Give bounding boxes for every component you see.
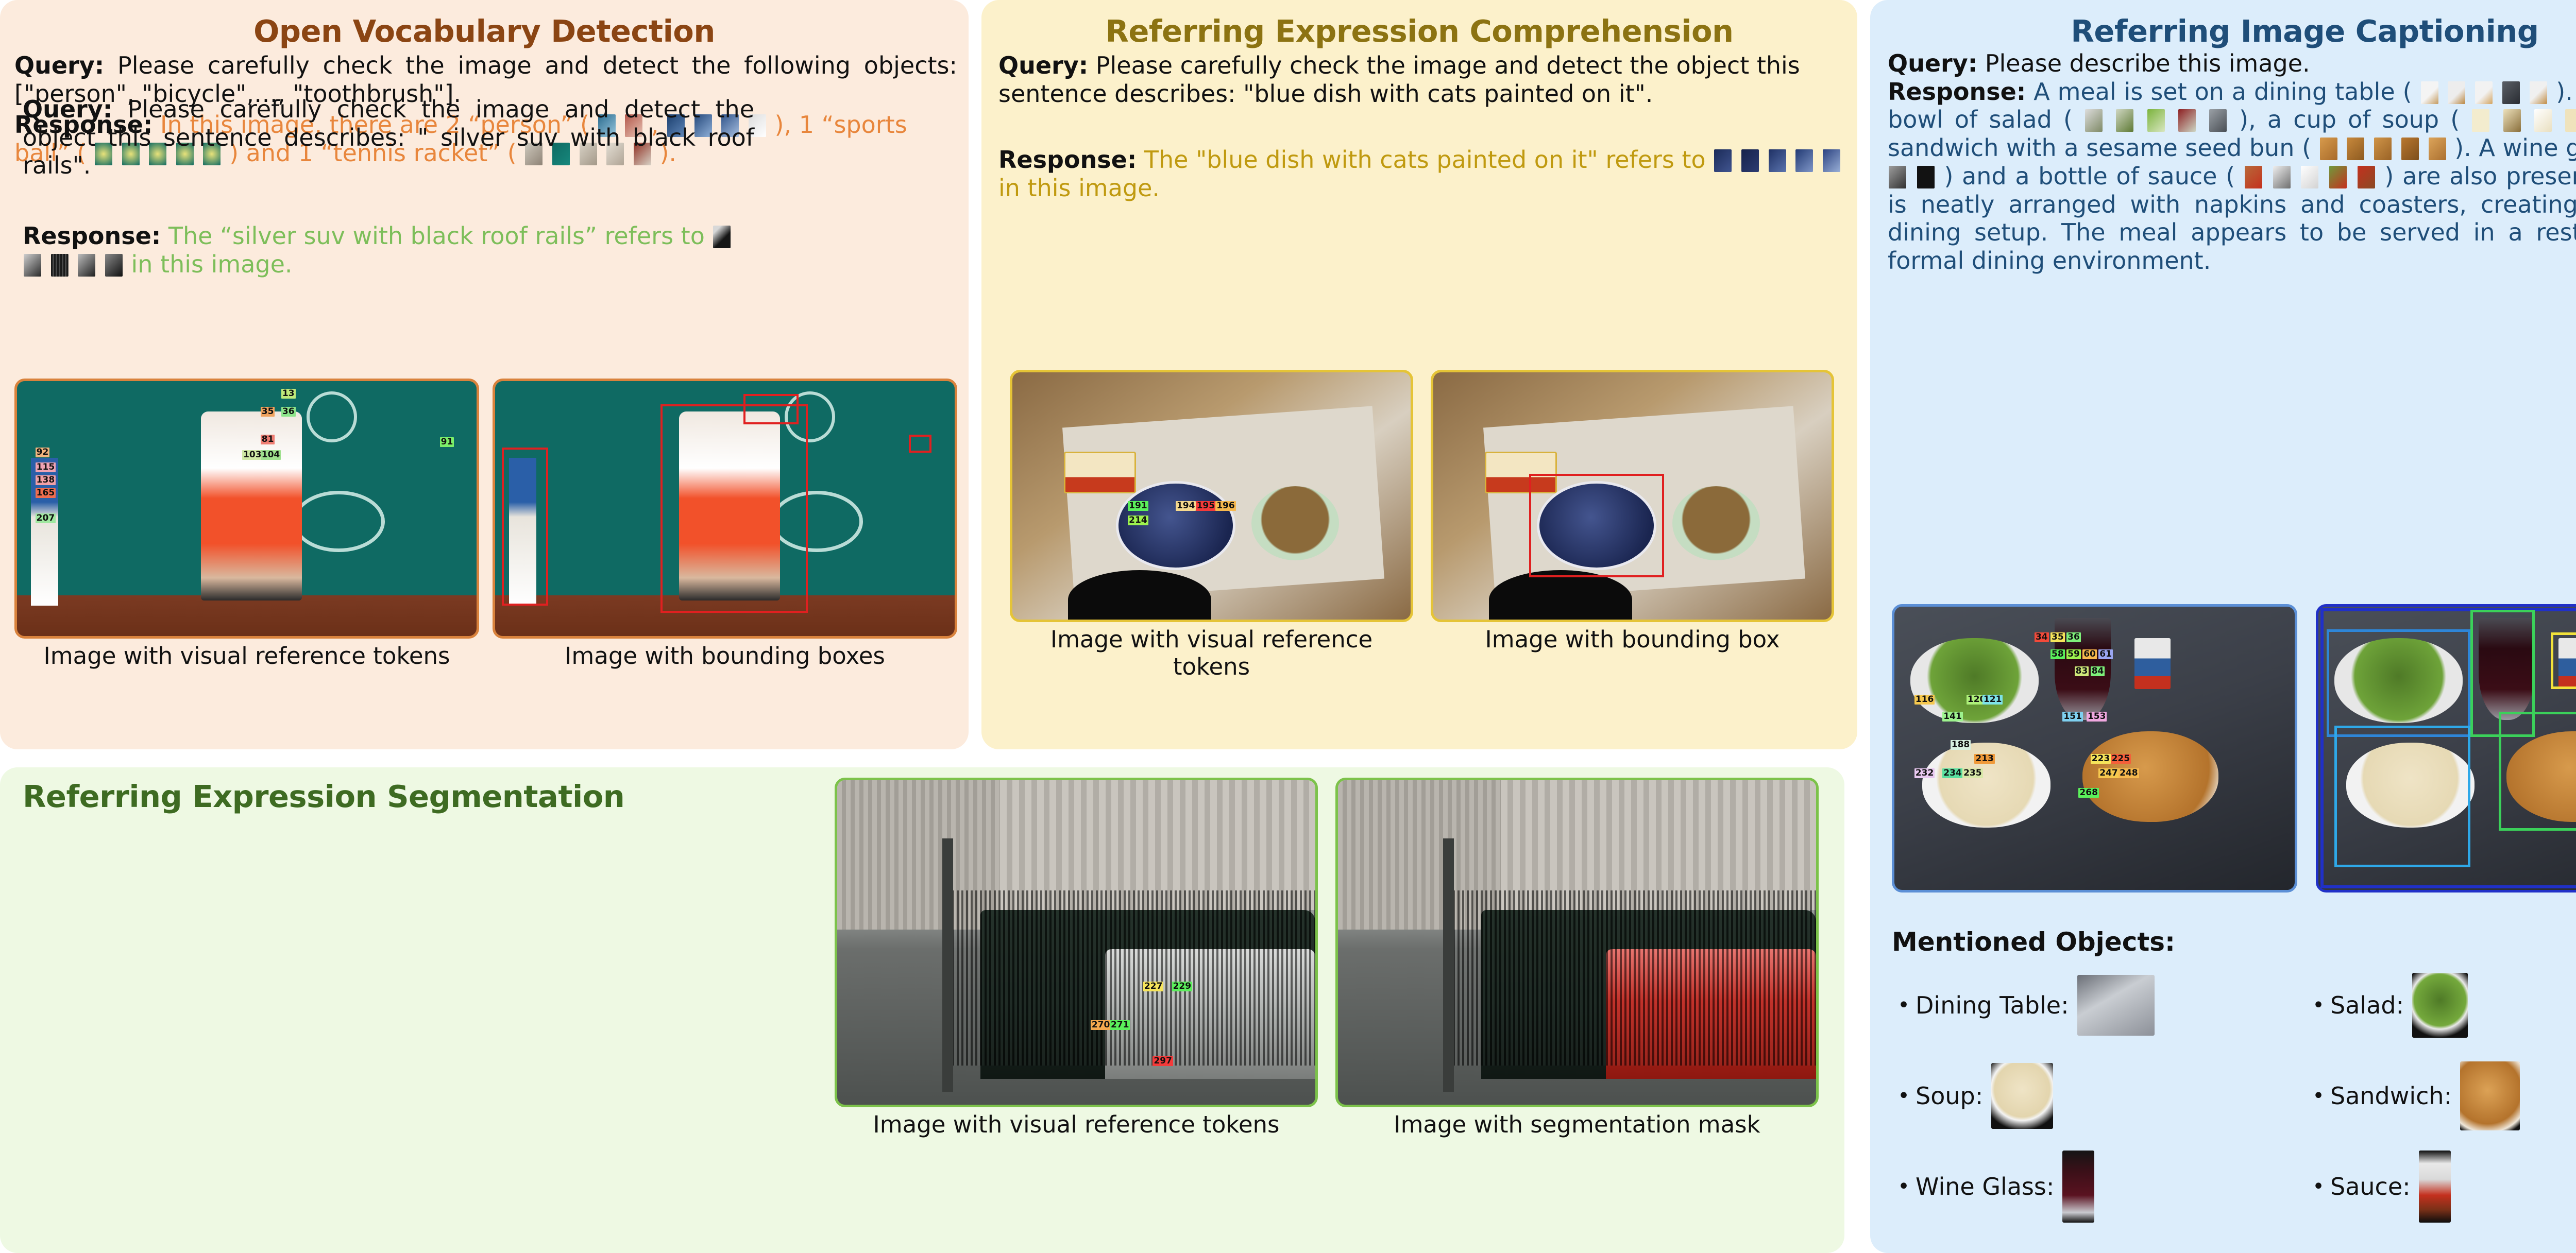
decor-logo-ellipse xyxy=(293,491,384,552)
token-chip-81: 81 xyxy=(261,435,275,444)
token-chip-270: 270 xyxy=(1091,1020,1111,1030)
visual-token-chip xyxy=(2245,166,2262,188)
token-chip-36: 36 xyxy=(2066,632,2081,642)
visual-token-chip xyxy=(2301,166,2318,188)
panel-title-ric: Referring Image Captioning xyxy=(1870,0,2576,49)
visual-token-chip xyxy=(2429,138,2446,160)
image-tennis-bounding-boxes[interactable] xyxy=(493,379,957,639)
ric-response-part-6: ) and a bottle of sauce ( xyxy=(1944,162,2235,190)
bounding-box-salad xyxy=(2327,629,2471,737)
token-chip-191: 191 xyxy=(1128,501,1148,511)
visual-token-chip xyxy=(713,226,731,248)
rec-text-block: Query: Please carefully check the image … xyxy=(998,52,1843,202)
bounding-box-person-secondary xyxy=(502,448,548,606)
token-chip-227: 227 xyxy=(1143,982,1164,991)
ric-query-text: Please describe this image. xyxy=(1985,49,2310,77)
bullet-icon: • xyxy=(2307,993,2330,1017)
token-chip-58: 58 xyxy=(2050,649,2065,659)
visual-token-chip xyxy=(24,254,41,277)
mentioned-object-label: Sandwich: xyxy=(2330,1082,2452,1110)
decor-fence xyxy=(952,890,1315,1066)
bullet-icon: • xyxy=(1892,1175,1916,1198)
res-response-label: Response: xyxy=(23,222,161,250)
visual-token-chip xyxy=(2503,109,2521,132)
ric-response: Response: A meal is set on a dining tabl… xyxy=(1888,78,2576,275)
token-chip-188: 188 xyxy=(1951,740,1971,750)
res-image-row: 227 229 270 271 297 Image with visual re… xyxy=(835,778,1819,1139)
ovd-caption-left: Image with visual reference tokens xyxy=(14,643,479,670)
visual-token-chip xyxy=(2147,109,2165,132)
visual-token-chip xyxy=(2472,109,2489,132)
mentioned-object-item[interactable]: • Sauce: xyxy=(2307,1143,2576,1230)
bullet-icon: • xyxy=(2307,1084,2330,1108)
visual-token-chip xyxy=(2534,109,2552,132)
ovd-image-row: 13 35 36 91 81 103 104 92 115 138 165 20… xyxy=(14,379,957,670)
mentioned-object-item[interactable]: • Sandwich: xyxy=(2307,1053,2576,1139)
bounding-box-tennis-racket xyxy=(743,394,799,424)
rec-image-left-cell: 191 214 194 195 196 Image with visual re… xyxy=(1010,370,1413,680)
token-chip-13: 13 xyxy=(281,389,296,399)
token-chip-248: 248 xyxy=(2119,768,2139,778)
token-chip-247: 247 xyxy=(2098,768,2119,778)
token-chip-229: 229 xyxy=(1172,982,1193,991)
image-street-segmentation-mask[interactable] xyxy=(1335,778,1819,1107)
ric-query: Query: Please describe this image. xyxy=(1888,49,2576,78)
mentioned-objects-title: Mentioned Objects: xyxy=(1892,927,2576,957)
token-chip-35: 35 xyxy=(2050,632,2065,642)
image-tennis-visual-reference-tokens[interactable]: 13 35 36 91 81 103 104 92 115 138 165 20… xyxy=(14,379,479,639)
ric-response-part-5: ). A wine glass ( xyxy=(2454,134,2576,162)
sandwich-thumb xyxy=(2460,1061,2520,1130)
sauce-thumb xyxy=(2419,1151,2451,1223)
decor-tennis-player xyxy=(201,411,302,600)
visual-token-chip xyxy=(2320,138,2337,160)
ric-response-label: Response: xyxy=(1888,78,2026,106)
mentioned-objects-grid: • Dining Table: • Salad: • Soup: • Sandw… xyxy=(1892,962,2576,1230)
res-caption-right: Image with segmentation mask xyxy=(1335,1111,1819,1139)
res-query-text: Please carefully check the image and det… xyxy=(23,95,754,179)
bounding-box-person-main xyxy=(660,404,807,613)
token-chip-268: 268 xyxy=(2078,788,2099,798)
rec-caption-left: Image with visual reference tokens xyxy=(1010,626,1413,680)
bounding-box-sports-ball xyxy=(909,435,932,453)
mentioned-object-item[interactable]: • Wine Glass: xyxy=(1892,1143,2307,1230)
decor-sauce-bottle xyxy=(2134,638,2171,689)
res-image-left-cell: 227 229 270 271 297 Image with visual re… xyxy=(835,778,1318,1139)
visual-token-chip xyxy=(2085,109,2103,132)
rec-image-row: 191 214 194 195 196 Image with visual re… xyxy=(1010,370,1834,680)
token-chip-141: 141 xyxy=(1942,712,1963,722)
token-chip-232: 232 xyxy=(1914,768,1935,778)
rec-query: Query: Please carefully check the image … xyxy=(998,52,1843,108)
visual-token-chip xyxy=(2401,138,2419,160)
bounding-box-blue-dish xyxy=(1529,474,1665,578)
bounding-box-sauce xyxy=(2551,632,2576,689)
bounding-box-soup xyxy=(2334,726,2470,867)
bounding-box-sandwich xyxy=(2499,712,2576,831)
token-chip-138: 138 xyxy=(36,475,56,485)
image-meal-bounding-boxes[interactable] xyxy=(2316,604,2576,892)
visual-token-chip xyxy=(2178,109,2196,132)
res-text-block: Query: Please carefully check the image … xyxy=(23,95,754,279)
ovd-image-left-cell: 13 35 36 91 81 103 104 92 115 138 165 20… xyxy=(14,379,479,670)
rec-image-right-cell: Image with bounding box xyxy=(1431,370,1834,680)
decor-street-pole xyxy=(1443,838,1453,1091)
visual-token-chip xyxy=(2347,138,2364,160)
ric-image-right-cell xyxy=(2316,604,2576,892)
res-response-part-1: The “silver suv with black roof rails” r… xyxy=(168,222,705,250)
token-chip-34: 34 xyxy=(2035,632,2049,642)
image-dish-bounding-box[interactable] xyxy=(1431,370,1834,622)
visual-token-chip xyxy=(2502,81,2520,104)
decor-green-bowl xyxy=(1251,486,1339,560)
visual-token-chip xyxy=(2530,81,2547,104)
rec-response-part-1: The "blue dish with cats painted on it" … xyxy=(1144,146,1706,174)
mentioned-object-label: Salad: xyxy=(2330,991,2404,1019)
token-chip-207: 207 xyxy=(36,513,56,523)
token-chip-59: 59 xyxy=(2066,649,2081,659)
ric-text-block: Query: Please describe this image. Respo… xyxy=(1888,49,2576,275)
visual-token-chip xyxy=(2209,109,2227,132)
token-chip-103: 103 xyxy=(242,450,263,460)
res-query-label: Query: xyxy=(23,95,112,123)
image-street-visual-reference-tokens[interactable]: 227 229 270 271 297 xyxy=(835,778,1318,1107)
token-chip-36: 36 xyxy=(281,407,296,417)
decor-cat-food-tin xyxy=(1064,452,1136,494)
token-chip-234: 234 xyxy=(1942,768,1963,778)
res-response: Response: The “silver suv with black roo… xyxy=(23,222,754,278)
rec-query-text: Please carefully check the image and det… xyxy=(998,52,1800,108)
decor-logo-circle xyxy=(307,391,357,442)
ovd-image-right-cell: Image with bounding boxes xyxy=(493,379,957,670)
ovd-query-label: Query: xyxy=(14,52,104,79)
visual-token-chip xyxy=(1823,149,1840,172)
mentioned-objects-section: Mentioned Objects: • Dining Table: • Sal… xyxy=(1892,927,2576,1230)
visual-token-chip xyxy=(51,254,69,277)
mentioned-object-item[interactable]: • Dining Table: xyxy=(1892,962,2307,1049)
token-chip-214: 214 xyxy=(1128,516,1148,525)
bullet-icon: • xyxy=(2307,1175,2330,1198)
salad-thumb xyxy=(2412,973,2468,1038)
rec-response-part-2: in this image. xyxy=(998,174,1160,202)
visual-token-chip xyxy=(2329,166,2347,188)
token-chip-61: 61 xyxy=(2098,649,2113,659)
res-image-right-cell: Image with segmentation mask xyxy=(1335,778,1819,1139)
panel-title-ovd: Open Vocabulary Detection xyxy=(0,0,969,49)
token-chip-297: 297 xyxy=(1153,1056,1173,1066)
token-chip-153: 153 xyxy=(2087,712,2107,722)
token-chip-116: 116 xyxy=(1914,695,1935,705)
token-chip-196: 196 xyxy=(1215,501,1236,511)
ric-response-part-3: ), a cup of soup ( xyxy=(2239,106,2460,133)
token-chip-225: 225 xyxy=(2111,754,2131,764)
bullet-icon: • xyxy=(1892,1084,1916,1108)
visual-token-chip xyxy=(78,254,95,277)
token-chip-91: 91 xyxy=(440,437,454,447)
panel-title-rec: Referring Expression Comprehension xyxy=(981,0,1857,49)
token-chip-195: 195 xyxy=(1196,501,1216,511)
soup-thumb xyxy=(1991,1063,2053,1129)
mentioned-object-item[interactable]: • Salad: xyxy=(2307,962,2576,1049)
ric-image-left-cell: 34 35 36 58 59 60 61 83 84 116 120 121 1… xyxy=(1892,604,2297,892)
token-chip-115: 115 xyxy=(36,462,56,472)
mentioned-object-item[interactable]: • Soup: xyxy=(1892,1053,2307,1139)
image-dish-visual-reference-tokens[interactable]: 191 214 194 195 196 xyxy=(1010,370,1413,622)
visual-token-chip xyxy=(2116,109,2133,132)
visual-token-chip xyxy=(2358,166,2375,188)
visual-token-chip xyxy=(105,254,123,277)
mentioned-object-label: Wine Glass: xyxy=(1916,1173,2054,1200)
visual-token-chip xyxy=(1917,166,1935,188)
token-chip-92: 92 xyxy=(36,448,50,457)
visual-token-chip xyxy=(2448,81,2465,104)
visual-token-chip xyxy=(1741,149,1759,172)
figure-root: Open Vocabulary Detection Query: Please … xyxy=(0,0,2576,1253)
res-response-part-2: in this image. xyxy=(131,250,293,278)
decor-blue-dish xyxy=(1116,481,1235,570)
token-chip-235: 235 xyxy=(1962,768,1983,778)
token-chip-165: 165 xyxy=(36,488,56,498)
visual-token-chip xyxy=(2421,81,2438,104)
mentioned-object-label: Soup: xyxy=(1916,1082,1983,1110)
ric-response-part-1: A meal is set on a dining table ( xyxy=(2033,78,2412,106)
decor-fence xyxy=(1453,890,1816,1066)
ric-image-row: 34 35 36 58 59 60 61 83 84 116 120 121 1… xyxy=(1892,604,2576,892)
token-chip-194: 194 xyxy=(1176,501,1196,511)
mentioned-object-label: Dining Table: xyxy=(1916,991,2069,1019)
ovd-caption-right: Image with bounding boxes xyxy=(493,643,957,670)
token-chip-60: 60 xyxy=(2082,649,2097,659)
mentioned-object-label: Sauce: xyxy=(2330,1173,2411,1200)
wine-glass-thumb xyxy=(2062,1151,2094,1223)
token-chip-151: 151 xyxy=(2062,712,2083,722)
token-chip-213: 213 xyxy=(1974,754,1995,764)
token-chip-84: 84 xyxy=(2091,666,2105,676)
rec-response: Response: The "blue dish with cats paint… xyxy=(998,146,1843,202)
visual-token-chip xyxy=(1795,149,1813,172)
visual-token-chip xyxy=(1714,149,1732,172)
decor-street-pole xyxy=(942,838,953,1091)
rec-response-label: Response: xyxy=(998,146,1137,174)
visual-token-chip xyxy=(2273,166,2291,188)
visual-token-chip xyxy=(2565,109,2576,132)
decor-salad-bowl xyxy=(1910,638,2039,723)
token-chip-271: 271 xyxy=(1110,1020,1130,1030)
token-chip-35: 35 xyxy=(261,407,275,417)
token-chip-104: 104 xyxy=(261,450,281,460)
visual-token-chip xyxy=(1769,149,1786,172)
token-chip-83: 83 xyxy=(2075,666,2089,676)
token-chip-121: 121 xyxy=(1982,695,2003,705)
res-caption-left: Image with visual reference tokens xyxy=(835,1111,1318,1139)
visual-token-chip xyxy=(1889,166,1906,188)
image-meal-visual-reference-tokens[interactable]: 34 35 36 58 59 60 61 83 84 116 120 121 1… xyxy=(1892,604,2297,892)
visual-token-chip xyxy=(2374,138,2392,160)
rec-caption-right: Image with bounding box xyxy=(1431,626,1834,654)
dining-table-thumb xyxy=(2077,975,2155,1036)
rec-query-label: Query: xyxy=(998,52,1088,79)
token-chip-223: 223 xyxy=(2091,754,2111,764)
bullet-icon: • xyxy=(1892,993,1916,1017)
decor-green-bowl xyxy=(1672,486,1760,560)
res-query: Query: Please carefully check the image … xyxy=(23,95,754,180)
visual-token-chip xyxy=(2475,81,2493,104)
ric-query-label: Query: xyxy=(1888,49,1977,77)
